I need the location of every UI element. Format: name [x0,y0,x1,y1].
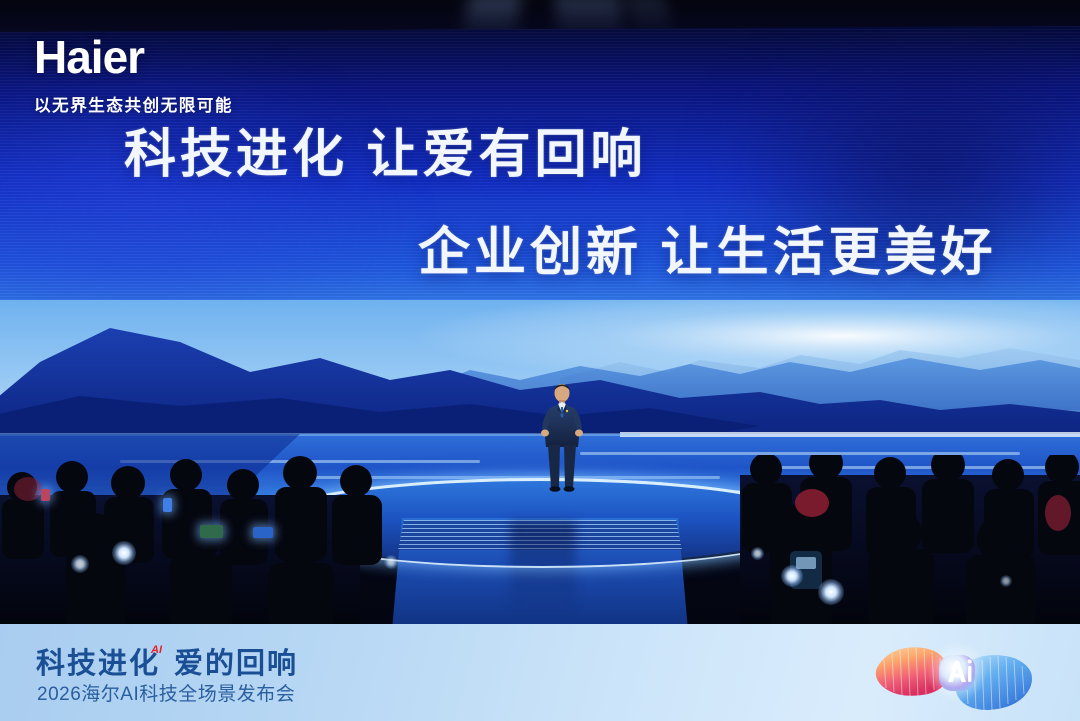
headline-secondary: 企业创新 让生活更美好 [418,224,1080,282]
stage-spotlight [71,555,89,573]
phone-screen-glow [163,498,172,512]
haier-tagline: 以无界生态共创无限可能 [34,92,233,116]
stage-spotlight [112,541,136,565]
ai-badge-text: AI [151,644,162,656]
phone-screen-glow [253,527,273,538]
stage-spotlight [818,579,844,605]
event-ribbon-logo [862,630,1052,718]
keynote-stage-photo: 科技进化 让爱有回响 企业创新 让生活更美好 Haier 以无界生态共创无限可能 [0,0,1080,721]
banner-title-part-2: 爱的回响 [174,648,298,680]
stage-spotlight [1000,575,1012,587]
stage-spotlight [751,547,764,560]
banner-title: 科技进化爱的回响 [36,640,298,682]
bottom-event-banner: 科技进化爱的回响 AI 2026海尔AI科技全场景发布会 [0,624,1080,721]
led-headline-group: 科技进化 让爱有回响 企业创新 让生活更美好 [0,126,1080,282]
stage-spotlight [384,555,398,569]
haier-brand-lockup: Haier 以无界生态共创无限可能 [34,34,233,116]
headline-primary: 科技进化 让爱有回响 [124,126,1080,184]
phone-screen-glow [41,489,50,501]
banner-title-part-1: 科技进化 [36,648,160,680]
phone-screen-glow [200,525,223,538]
banner-subtitle: 2026海尔AI科技全场景发布会 [37,679,295,706]
haier-wordmark: Haier [34,34,233,80]
stage-spotlight [781,565,803,587]
audience-silhouettes [0,455,1080,630]
